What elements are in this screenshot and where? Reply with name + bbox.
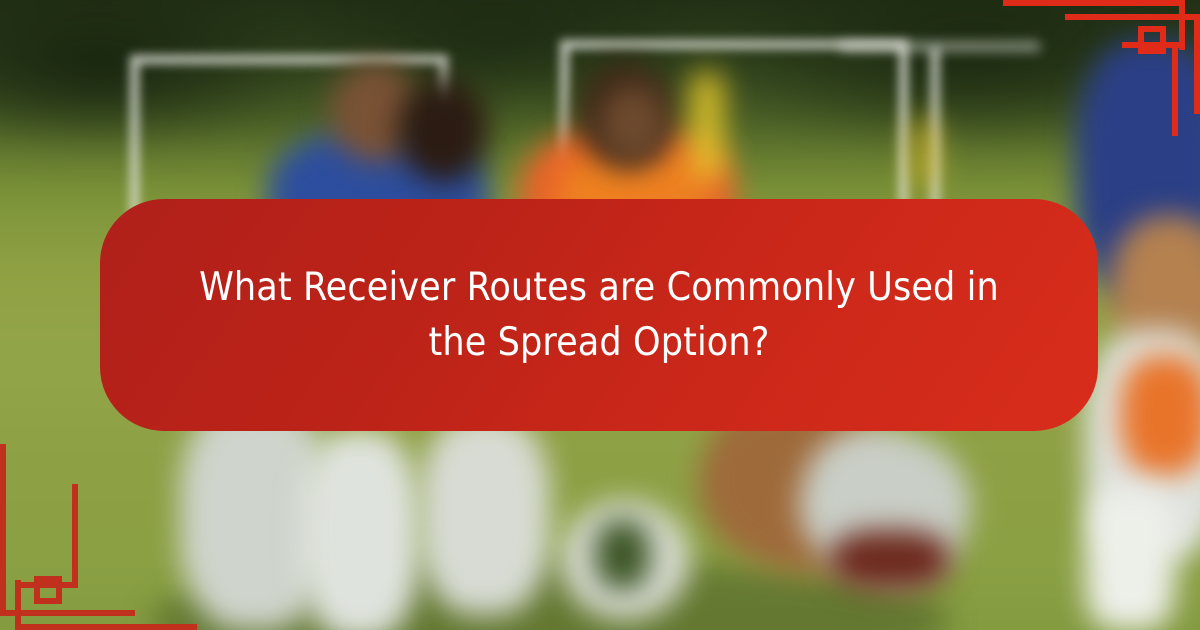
ornament-tr-line-v3 (1172, 42, 1178, 136)
corner-ornament-top-right (1000, 0, 1200, 145)
ornament-tr-square-icon (1138, 26, 1166, 54)
ornament-bl-line-h2 (0, 610, 135, 616)
training-cone-yellow (690, 72, 724, 182)
player-blue-hair (398, 78, 488, 183)
ornament-tr-line-h1 (1003, 0, 1185, 6)
foreground-shoe (830, 530, 950, 590)
social-card-banner: What Receiver Routes are Commonly Used i… (0, 0, 1200, 630)
player-right-sock (1085, 490, 1175, 630)
ornament-bl-line-v3 (72, 484, 78, 588)
title-card: What Receiver Routes are Commonly Used i… (100, 199, 1098, 431)
training-cone-yellow-far (910, 118, 938, 188)
ornament-bl-line-v2 (0, 444, 6, 616)
ornament-bl-square-icon (34, 576, 62, 604)
ornament-tr-line-h2 (1065, 14, 1200, 20)
corner-ornament-bottom-left (0, 420, 200, 630)
player-orange-face (598, 84, 668, 164)
soccer-ball-panel (595, 520, 650, 590)
page-title: What Receiver Routes are Commonly Used i… (199, 260, 999, 371)
ornament-bl-line-h1 (15, 624, 197, 630)
foreground-leg-left-2 (300, 430, 420, 630)
ornament-tr-line-v2 (1194, 14, 1200, 114)
foreground-leg-center (420, 415, 550, 615)
player-right-shorts (1120, 355, 1200, 475)
